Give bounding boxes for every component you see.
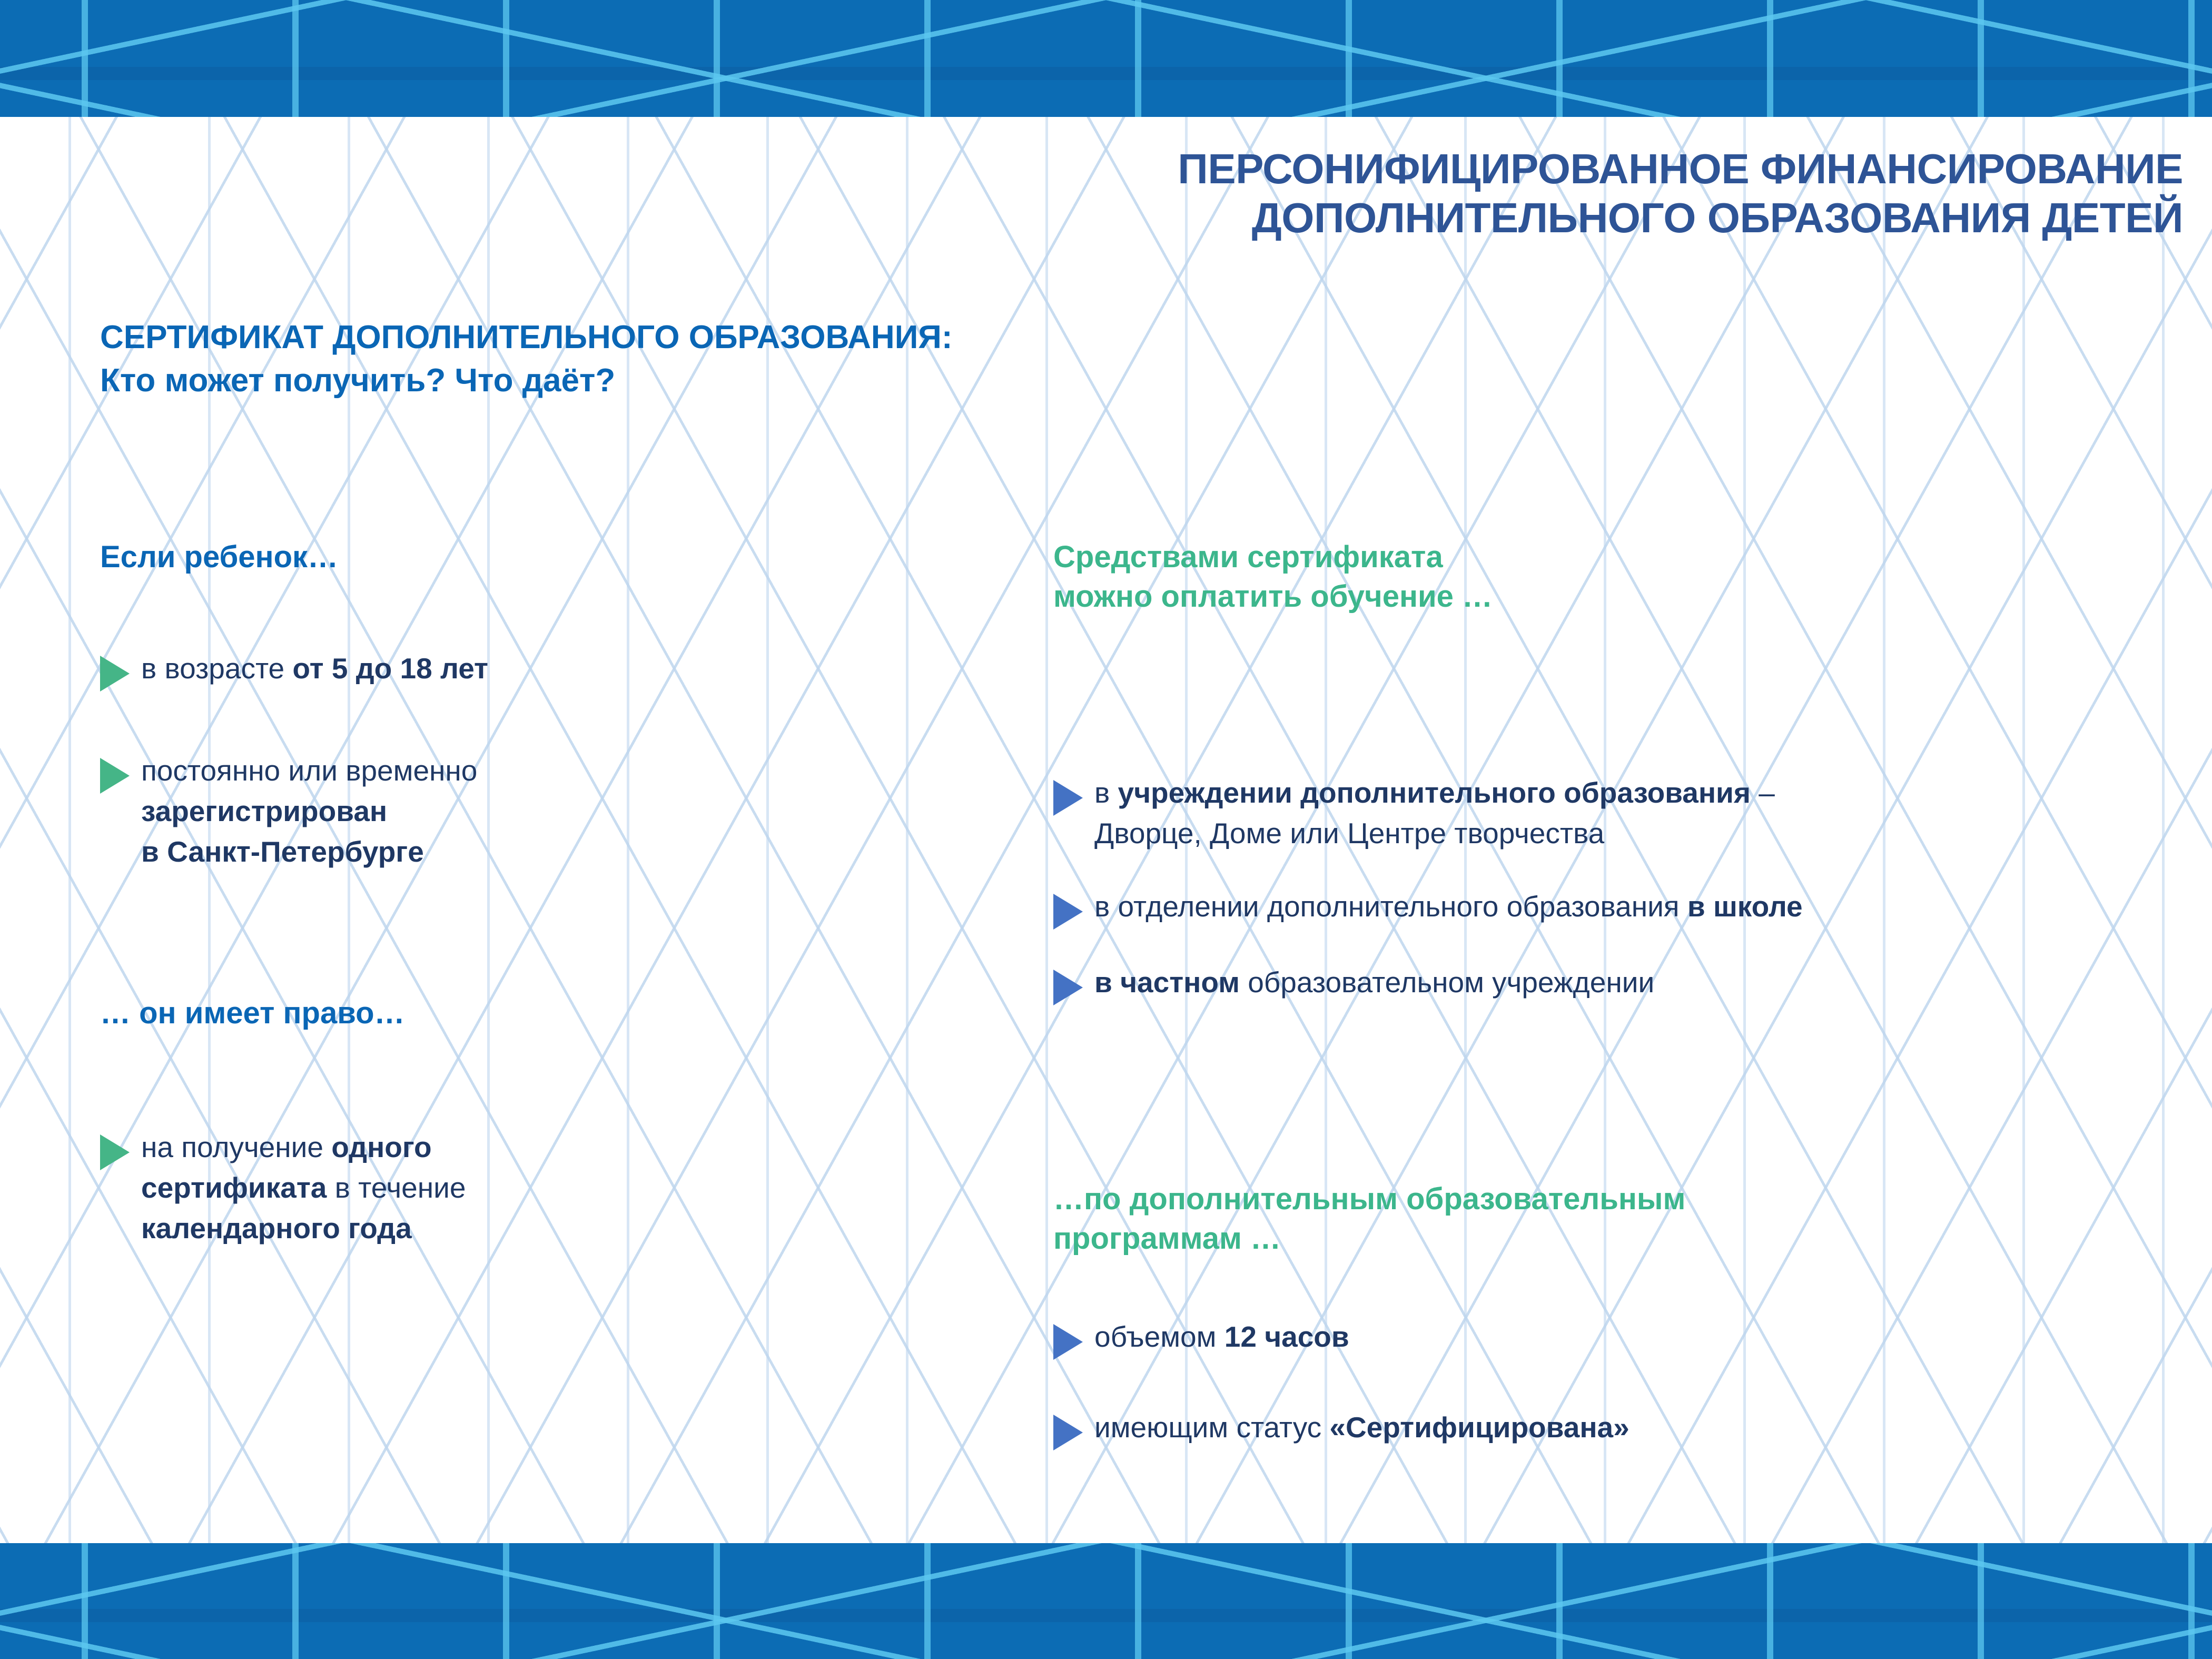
bullet-text-emphasis: сертификата (141, 1171, 327, 1204)
bullet-text-run: на получение (141, 1131, 331, 1163)
right-heading-programs-line-1: …по дополнительным образовательным (1053, 1179, 2212, 1219)
bullet-text-run: Дворце, Доме или Центре творчества (1094, 817, 1604, 850)
bullet-text-emphasis: 12 часов (1224, 1320, 1349, 1353)
left-heading-has-right: … он имеет право… (100, 993, 890, 1033)
bullet-item: в учреждении дополнительного образования… (1053, 773, 2212, 854)
spacer (100, 577, 890, 648)
bullet-text-run: в возрасте (141, 652, 292, 685)
bullet-text-line: объемом 12 часов (1094, 1317, 1349, 1357)
arrow-right-icon (100, 656, 130, 692)
bullet-text: в учреждении дополнительного образования… (1094, 773, 1775, 854)
bullet-text-line: в учреждении дополнительного образования… (1094, 773, 1775, 813)
page-subtitle-line-1: СЕРТИФИКАТ ДОПОЛНИТЕЛЬНОГО ОБРАЗОВАНИЯ: (100, 316, 952, 359)
bullet-text-emphasis: в частном (1094, 966, 1240, 999)
bullet-text-run: в (1094, 776, 1118, 809)
bullet-text: имеющим статус «Сертифицирована» (1094, 1407, 1630, 1448)
page-title-line-1: ПЕРСОНИФИЦИРОВАННОЕ ФИНАНСИРОВАНИЕ (656, 145, 2183, 194)
right-bullet-list-2: объемом 12 часовимеющим статус «Сертифиц… (1053, 1317, 2212, 1450)
bullet-text-run: в течение (327, 1171, 466, 1204)
bullet-text-line: зарегистрирован (141, 791, 477, 832)
bullet-text-line: в возрасте от 5 до 18 лет (141, 648, 488, 689)
bottom-banner (0, 1543, 2212, 1659)
right-heading-programs: …по дополнительным образовательным прогр… (1053, 1179, 2212, 1259)
arrow-right-icon (1053, 1415, 1083, 1450)
bullet-text-line: в Санкт-Петербурге (141, 832, 477, 872)
right-heading-funds-line-2: можно оплатить обучение … (1053, 577, 2212, 616)
bullet-text: в возрасте от 5 до 18 лет (141, 648, 488, 689)
left-bullet-list-2: на получение одногосертификата в течение… (100, 1127, 890, 1249)
bullet-item: в частном образовательном учреждении (1053, 962, 2212, 1005)
spacer (1053, 1005, 2212, 1179)
spacer (100, 872, 890, 993)
bullet-item: в возрасте от 5 до 18 лет (100, 648, 890, 692)
top-banner (0, 0, 2212, 117)
spacer (1053, 617, 2212, 773)
page-subtitle-line-2: Кто может получить? Что даёт? (100, 359, 952, 402)
arrow-right-icon (100, 758, 130, 794)
arrow-right-icon (1053, 780, 1083, 816)
bullet-text: в отделении дополнительного образования … (1094, 886, 1803, 927)
page-title-line-2: ДОПОЛНИТЕЛЬНОГО ОБРАЗОВАНИЯ ДЕТЕЙ (656, 194, 2183, 243)
bullet-text-emphasis: учреждении дополнительного образования (1118, 776, 1751, 809)
bullet-text-line: имеющим статус «Сертифицирована» (1094, 1407, 1630, 1448)
slide-root: ПЕРСОНИФИЦИРОВАННОЕ ФИНАНСИРОВАНИЕ ДОПОЛ… (0, 0, 2212, 1659)
bullet-text-line: постоянно или временно (141, 750, 477, 791)
right-column: Средствами сертификата можно оплатить об… (1053, 537, 2212, 1450)
left-bullet-list-1: в возрасте от 5 до 18 летпостоянно или в… (100, 648, 890, 872)
bullet-text-run: объемом (1094, 1320, 1224, 1353)
spacer (1053, 1360, 2212, 1407)
spacer (1053, 1259, 2212, 1317)
bullet-text-run: постоянно или временно (141, 754, 477, 787)
bullet-text-line: календарного года (141, 1208, 466, 1249)
bullet-text-line: Дворце, Доме или Центре творчества (1094, 813, 1775, 854)
left-heading-if-child: Если ребенок… (100, 537, 890, 577)
page-subtitle: СЕРТИФИКАТ ДОПОЛНИТЕЛЬНОГО ОБРАЗОВАНИЯ: … (100, 316, 952, 402)
bullet-text-emphasis: зарегистрирован (141, 795, 387, 827)
right-heading-funds-line-1: Средствами сертификата (1053, 537, 2212, 577)
arrow-right-icon (1053, 1324, 1083, 1360)
spacer (100, 1033, 890, 1127)
bullet-text-emphasis: в школе (1687, 890, 1803, 923)
banner-weave-pattern-bottom (0, 1543, 2212, 1659)
arrow-right-icon (1053, 894, 1083, 930)
arrow-right-icon (1053, 970, 1083, 1005)
bullet-item: на получение одногосертификата в течение… (100, 1127, 890, 1249)
bullet-text-emphasis: в Санкт-Петербурге (141, 835, 424, 868)
left-column: Если ребенок… в возрасте от 5 до 18 летп… (100, 537, 890, 1249)
bullet-item: в отделении дополнительного образования … (1053, 886, 2212, 930)
bullet-text: объемом 12 часов (1094, 1317, 1349, 1357)
page-title: ПЕРСОНИФИЦИРОВАННОЕ ФИНАНСИРОВАНИЕ ДОПОЛ… (656, 145, 2183, 243)
bullet-text-line: сертификата в течение (141, 1168, 466, 1208)
right-heading-funds: Средствами сертификата можно оплатить об… (1053, 537, 2212, 617)
bullet-text-emphasis: одного (331, 1131, 431, 1163)
spacer (1053, 930, 2212, 962)
bullet-text-line: в отделении дополнительного образования … (1094, 886, 1803, 927)
right-bullet-list-1: в учреждении дополнительного образования… (1053, 773, 2212, 1005)
spacer (1053, 854, 2212, 886)
bullet-text-emphasis: от 5 до 18 лет (292, 652, 488, 685)
bullet-text: постоянно или временнозарегистрированв С… (141, 750, 477, 872)
bullet-item: объемом 12 часов (1053, 1317, 2212, 1360)
arrow-right-icon (100, 1134, 130, 1170)
right-heading-programs-line-2: программам … (1053, 1219, 2212, 1258)
bullet-text: в частном образовательном учреждении (1094, 962, 1654, 1003)
spacer (100, 692, 890, 750)
bullet-text-emphasis: календарного года (141, 1212, 412, 1245)
bullet-text-run: имеющим статус (1094, 1411, 1329, 1444)
bullet-item: постоянно или временнозарегистрированв С… (100, 750, 890, 872)
banner-weave-pattern-top (0, 0, 2212, 117)
bullet-text-line: на получение одного (141, 1127, 466, 1168)
bullet-text-line: в частном образовательном учреждении (1094, 962, 1654, 1003)
bullet-item: имеющим статус «Сертифицирована» (1053, 1407, 2212, 1450)
bullet-text-run: в отделении дополнительного образования (1094, 890, 1687, 923)
bullet-text-emphasis: «Сертифицирована» (1329, 1411, 1629, 1444)
bullet-text: на получение одногосертификата в течение… (141, 1127, 466, 1249)
bullet-text-run: образовательном учреждении (1240, 966, 1654, 999)
bullet-text-run: – (1751, 776, 1775, 809)
